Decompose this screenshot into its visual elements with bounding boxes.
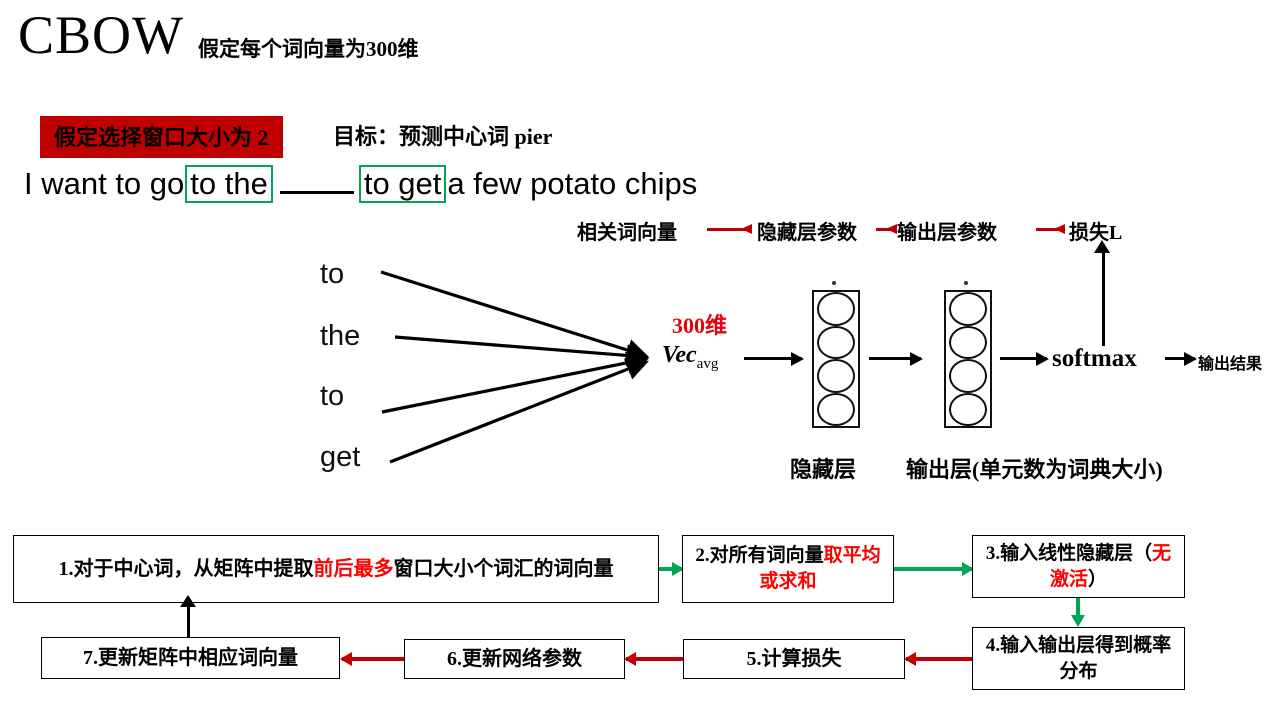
backprop-arrow-1-icon: [707, 228, 751, 231]
input-word-2: to: [320, 380, 344, 413]
flow-box-2: 2.对所有词向量取平均或求和: [682, 535, 894, 603]
target-word-blank: [280, 165, 354, 194]
flow-arrow-5-to-6-icon: [626, 657, 683, 661]
page-subtitle: 假定每个词向量为300维: [198, 33, 419, 63]
flow-box-7: 7.更新矩阵中相应词向量: [41, 637, 340, 679]
hidden-layer-column: [812, 290, 860, 428]
output-layer-column: [944, 290, 992, 428]
flow-arrow-1-to-2-icon: [659, 567, 682, 571]
flow-box-3-post: ）: [1088, 569, 1107, 590]
vec-avg-sub: avg: [697, 356, 719, 372]
flow-box-4: 4.输入输出层得到概率分布: [972, 627, 1185, 690]
flow-box-1-pre: 1.对于中心词，从矩阵中提取: [59, 558, 314, 580]
hidden-unit: [817, 326, 855, 360]
vec-avg-label: Vecavg: [662, 342, 718, 373]
flow-box-2-pre: 2.对所有词向量: [695, 545, 823, 566]
window-size-banner: 假定选择窗口大小为 2: [40, 116, 283, 158]
sentence-prefix: I want to go: [24, 166, 184, 202]
goal-label: 目标：预测中心词 pier: [333, 119, 552, 151]
context-window-right: to get: [359, 165, 447, 203]
forward-arrow-to-softmax-icon: [1000, 357, 1047, 360]
output-layer-caption: 输出层(单元数为词典大小): [906, 452, 1163, 484]
loss-uplink-line-icon: [1102, 248, 1105, 346]
forward-arrow-to-hidden-icon: [744, 357, 802, 360]
output-unit: [949, 326, 987, 360]
hidden-unit: [817, 359, 855, 393]
flow-arrow-7-to-1-head-icon: [180, 595, 196, 607]
softmax-label: softmax: [1052, 345, 1137, 373]
forward-arrow-to-output-icon: [869, 357, 921, 360]
output-layer-dot-icon: [964, 281, 968, 285]
flow-box-5: 5.计算损失: [683, 639, 905, 679]
loss-uplink-arrow-icon: [1094, 240, 1110, 253]
flow-box-4-text: 4.输入输出层得到概率分布: [979, 633, 1178, 685]
flow-box-6-text: 6.更新网络参数: [447, 646, 582, 672]
backprop-arrow-3-icon: [1036, 228, 1064, 231]
output-unit: [949, 292, 987, 326]
input-word-3: get: [320, 441, 360, 474]
flow-box-1: 1.对于中心词，从矩阵中提取前后最多窗口大小个词汇的词向量: [13, 535, 659, 603]
embedding-dim-label: 300维: [672, 308, 727, 340]
flow-arrow-6-to-7-icon: [342, 657, 404, 661]
flow-box-6: 6.更新网络参数: [404, 639, 625, 679]
flow-box-1-post: 窗口大小个词汇的词向量: [394, 558, 614, 580]
flow-arrow-7-to-1-line-icon: [187, 603, 190, 637]
example-sentence: I want to go to the to get a few potato …: [24, 165, 697, 203]
flow-box-5-text: 5.计算损失: [747, 646, 842, 672]
hidden-unit: [817, 393, 855, 427]
flow-arrow-2-to-3-icon: [894, 567, 972, 571]
sentence-suffix: a few potato chips: [447, 166, 697, 202]
input-word-0: to: [320, 258, 344, 291]
backprop-label-hidden-params: 隐藏层参数: [757, 216, 857, 245]
flow-box-7-text: 7.更新矩阵中相应词向量: [83, 645, 298, 671]
flow-box-3: 3.输入线性隐藏层（无激活）: [972, 535, 1185, 598]
context-window-left: to the: [185, 165, 273, 203]
flow-arrow-4-to-5-icon: [906, 657, 972, 661]
flow-box-3-pre: 3.输入线性隐藏层（: [986, 543, 1152, 564]
vec-avg-main: Vec: [662, 342, 697, 368]
output-result-label: 输出结果: [1198, 350, 1262, 374]
flow-box-1-highlight: 前后最多: [314, 558, 394, 580]
backprop-arrow-2-icon: [876, 228, 896, 231]
hidden-layer-dot-icon: [832, 281, 836, 285]
hidden-layer-caption: 隐藏层: [790, 452, 856, 484]
hidden-unit: [817, 292, 855, 326]
forward-arrow-to-result-icon: [1165, 357, 1195, 360]
output-unit: [949, 359, 987, 393]
output-unit: [949, 393, 987, 427]
backprop-label-output-params: 输出层参数: [897, 216, 997, 245]
flow-arrow-3-to-4-icon: [1076, 598, 1080, 616]
backprop-label-word-vectors: 相关词向量: [577, 216, 677, 245]
page-title: CBOW: [18, 6, 184, 64]
input-word-1: the: [320, 320, 360, 353]
